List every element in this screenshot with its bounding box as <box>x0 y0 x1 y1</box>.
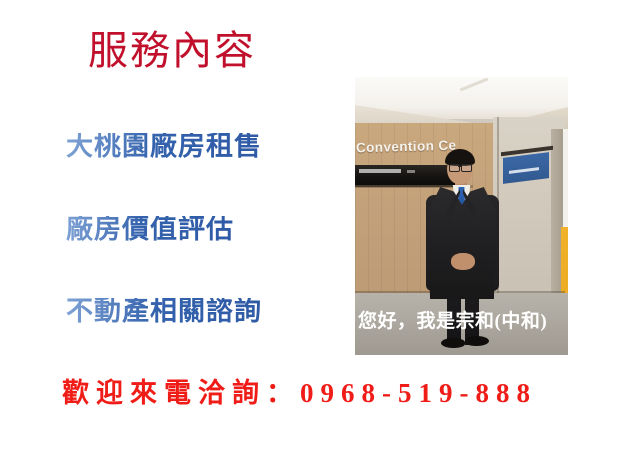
right-shoe <box>465 336 489 346</box>
clasped-hands <box>451 253 475 270</box>
contact-phone-line: 歡迎來電洽詢：0968-519-888 <box>62 371 537 410</box>
slide-canvas: 服務內容 大桃園廠房租售 廠房價值評估 不動產相關諮詢 歡迎來電洽詢：0968-… <box>0 0 640 451</box>
glasses-bridge <box>458 166 461 167</box>
glasses-right-lens <box>461 164 472 172</box>
left-shoe <box>441 338 465 348</box>
service-item-2: 廠房價值評估 <box>66 216 234 243</box>
page-title: 服務內容 <box>88 31 256 71</box>
service-item-3: 不動產相關諮詢 <box>66 298 262 325</box>
photo-caption: 您好，我是宗和(中和) <box>358 306 547 333</box>
service-item-1: 大桃園廠房租售 <box>66 133 262 160</box>
